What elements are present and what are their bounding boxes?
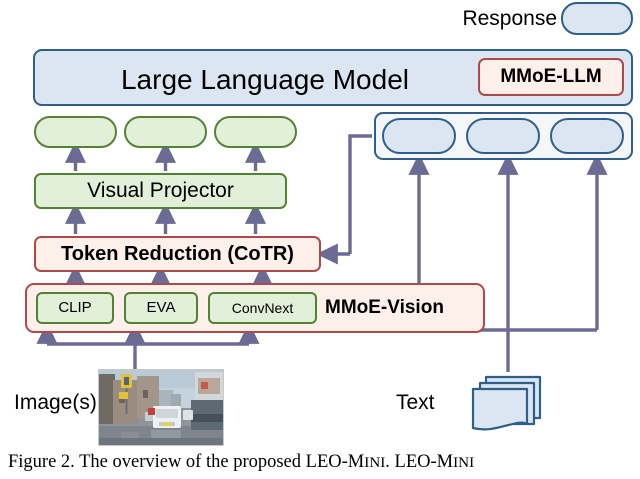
- street-scene-thumbnail: [98, 369, 224, 446]
- response-label: Response: [437, 5, 557, 33]
- text-input-label: Text: [396, 388, 456, 418]
- vision-expert-eva: EVA: [124, 292, 198, 324]
- caption-smallcaps-2: INI: [453, 454, 474, 471]
- figure-overview: Response Large Language Model MMoE-LLM V…: [0, 0, 640, 479]
- document-stack-icon: [460, 372, 546, 438]
- visual-token-2: [124, 116, 207, 148]
- vision-expert-clip: CLIP: [36, 292, 114, 324]
- mmoe-llm-badge: MMoE-LLM: [478, 58, 624, 96]
- text-token-3: [550, 118, 624, 154]
- visual-token-3: [214, 116, 297, 148]
- response-token-box: [561, 2, 633, 35]
- street-scene-illustration: [99, 370, 223, 445]
- text-token-1: [382, 118, 456, 154]
- token-reduction-box: Token Reduction (CoTR): [34, 236, 321, 272]
- mmoe-vision-label: MMoE-Vision: [325, 293, 477, 323]
- visual-token-1: [34, 116, 117, 148]
- visual-projector-box: Visual Projector: [34, 173, 287, 209]
- caption-part-1: Figure 2. The overview of the proposed L…: [8, 452, 364, 472]
- figure-caption: Figure 2. The overview of the proposed L…: [8, 452, 638, 473]
- text-token-2: [466, 118, 540, 154]
- caption-part-2: . LEO-M: [385, 452, 453, 472]
- vision-expert-convnext: ConvNext: [208, 292, 317, 324]
- caption-smallcaps-1: INI: [364, 454, 385, 471]
